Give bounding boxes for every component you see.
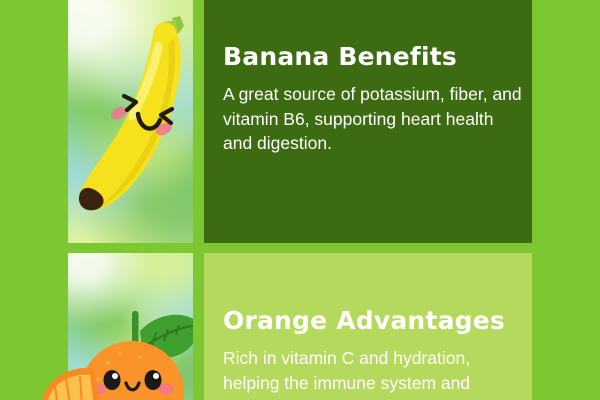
banana-card-title: Banana Benefits bbox=[223, 42, 457, 72]
orange-text-card: Orange Advantages Rich in vitamin C and … bbox=[204, 253, 532, 400]
banana-card-body: A great source of potassium, fiber, and … bbox=[223, 82, 523, 156]
orange-slice-icon bbox=[40, 366, 104, 400]
banana-text-card: Banana Benefits A great source of potass… bbox=[204, 0, 532, 243]
orange-card-body: Rich in vitamin C and hydration, helping… bbox=[223, 346, 523, 395]
infographic-stage: Banana Benefits A great source of potass… bbox=[0, 0, 600, 400]
kawaii-banana-icon bbox=[68, 0, 193, 243]
orange-card-title: Orange Advantages bbox=[223, 306, 505, 336]
banana-image-tile bbox=[68, 0, 193, 243]
